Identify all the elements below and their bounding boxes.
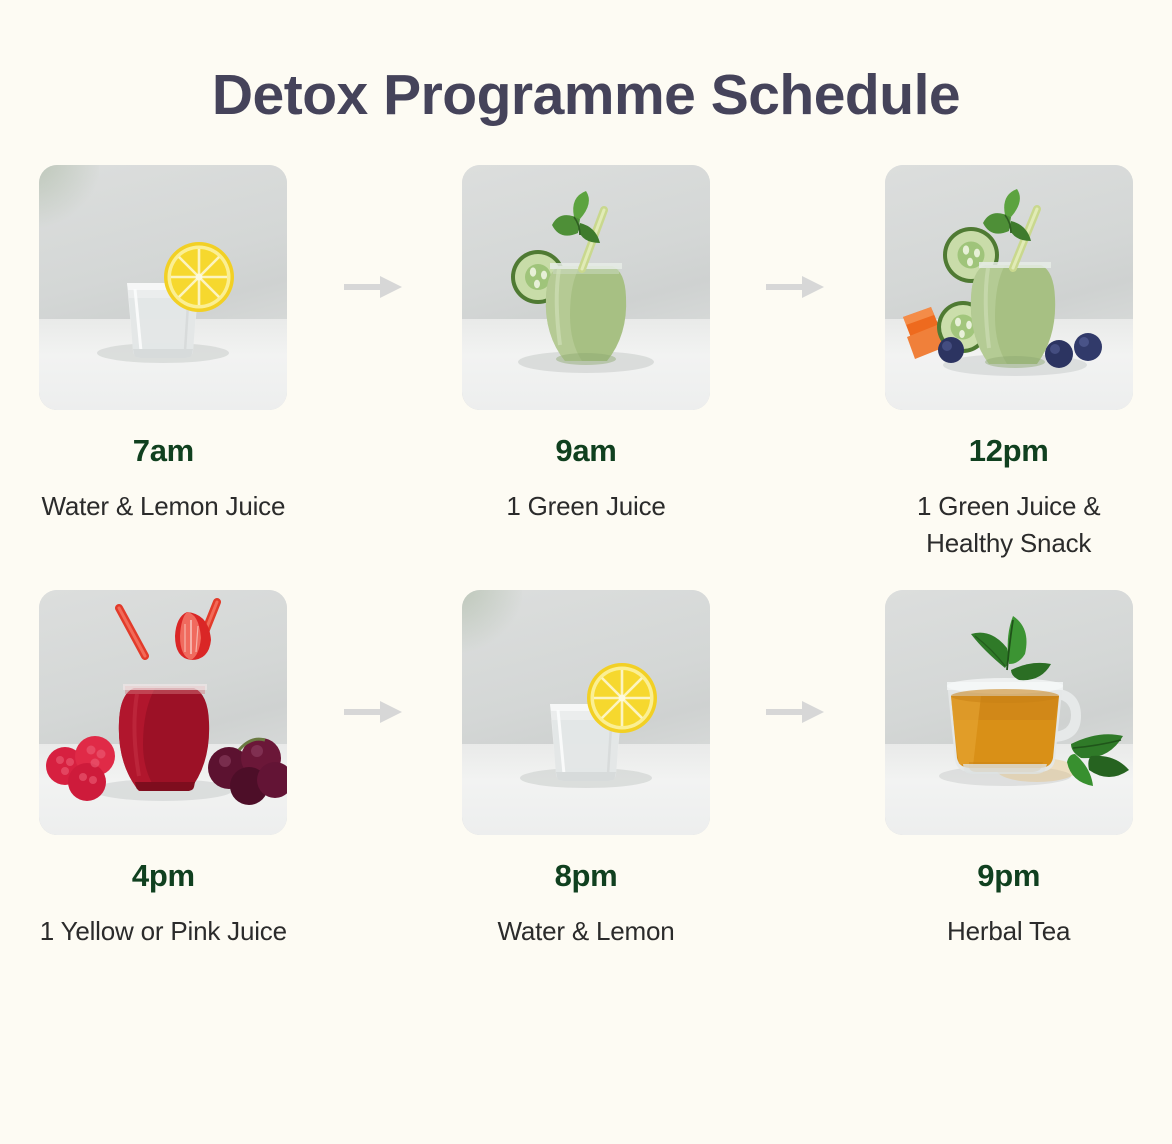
arrow-right-icon <box>749 590 845 835</box>
schedule-row: 7am Water & Lemon Juice <box>0 165 1172 562</box>
schedule-step[interactable]: 8pm Water & Lemon <box>423 590 750 950</box>
step-image-herbal-tea <box>885 590 1133 835</box>
step-image-green-juice <box>462 165 710 410</box>
step-description: 1 Green Juice <box>506 488 665 525</box>
page-title: Detox Programme Schedule <box>0 0 1172 126</box>
step-description: Water & Lemon Juice <box>41 488 285 525</box>
step-image-water-lemon <box>462 590 710 835</box>
step-description: 1 Green Juice & Healthy Snack <box>879 488 1139 562</box>
step-time: 12pm <box>969 435 1049 466</box>
step-time: 9am <box>555 435 616 466</box>
schedule-step[interactable]: 9am 1 Green Juice <box>423 165 750 525</box>
step-time: 7am <box>133 435 194 466</box>
schedule-grid: 7am Water & Lemon Juice <box>0 165 1172 950</box>
step-image-water-lemon <box>39 165 287 410</box>
step-time: 9pm <box>977 860 1040 891</box>
step-time: 8pm <box>555 860 618 891</box>
schedule-step[interactable]: 7am Water & Lemon Juice <box>0 165 327 525</box>
step-description: 1 Yellow or Pink Juice <box>40 913 287 950</box>
arrow-right-icon <box>327 590 423 835</box>
arrow-right-icon <box>327 165 423 410</box>
step-image-red-juice <box>39 590 287 835</box>
step-time: 4pm <box>132 860 195 891</box>
step-description: Water & Lemon <box>497 913 674 950</box>
step-image-green-juice-snack <box>885 165 1133 410</box>
schedule-step[interactable]: 12pm 1 Green Juice & Healthy Snack <box>845 165 1172 562</box>
arrow-right-icon <box>749 165 845 410</box>
step-description: Herbal Tea <box>947 913 1070 950</box>
schedule-row: 4pm 1 Yellow or Pink Juice <box>0 590 1172 950</box>
schedule-step[interactable]: 4pm 1 Yellow or Pink Juice <box>0 590 327 950</box>
schedule-step[interactable]: 9pm Herbal Tea <box>845 590 1172 950</box>
